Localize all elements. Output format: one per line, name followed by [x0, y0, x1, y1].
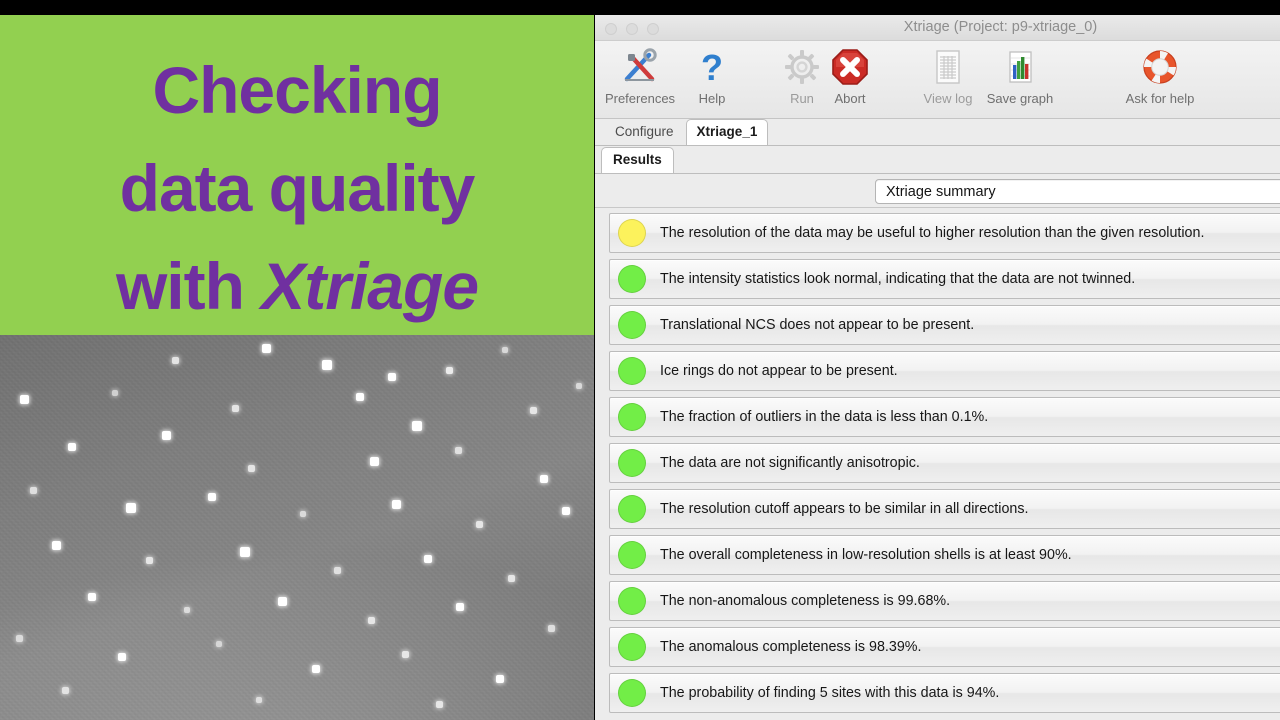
result-row[interactable]: The anomalous completeness is 98.39%. — [609, 627, 1280, 667]
status-dot-ok — [618, 633, 646, 661]
presentation-slide-panel: Checking data quality with Xtriage — [0, 15, 594, 720]
main-toolbar: Preferences ? Help — [595, 41, 1280, 119]
result-row[interactable]: The resolution of the data may be useful… — [609, 213, 1280, 253]
result-text: Translational NCS does not appear to be … — [660, 317, 974, 333]
xtriage-app-window: Xtriage (Project: p9-xtriage_0) Preferen… — [594, 15, 1280, 720]
question-icon: ? — [669, 45, 755, 89]
stop-x-icon — [807, 45, 893, 89]
status-dot-ok — [618, 403, 646, 431]
sub-tabstrip: Results — [595, 146, 1280, 174]
letterbox-top-bar — [0, 0, 1280, 15]
slide-title-line-1: Checking — [0, 41, 594, 139]
save-graph-button[interactable]: Save graph — [977, 45, 1063, 106]
ask-for-help-button[interactable]: Ask for help — [1105, 45, 1215, 106]
abort-button[interactable]: Abort — [807, 45, 893, 106]
result-text: The data are not significantly anisotrop… — [660, 455, 920, 471]
status-dot-ok — [618, 357, 646, 385]
status-dot-ok — [618, 679, 646, 707]
result-text: The anomalous completeness is 98.39%. — [660, 639, 921, 655]
help-label: Help — [669, 91, 755, 106]
result-row[interactable]: The data are not significantly anisotrop… — [609, 443, 1280, 483]
result-row[interactable]: The probability of finding 5 sites with … — [609, 673, 1280, 713]
bar-chart-icon — [977, 45, 1063, 89]
summary-selector-row: Xtriage summary — [595, 174, 1280, 208]
result-row[interactable]: The resolution cutoff appears to be simi… — [609, 489, 1280, 529]
result-row[interactable]: The non-anomalous completeness is 99.68%… — [609, 581, 1280, 621]
abort-label: Abort — [807, 91, 893, 106]
status-dot-ok — [618, 587, 646, 615]
results-list: The resolution of the data may be useful… — [595, 208, 1280, 720]
tab-xtriage-1[interactable]: Xtriage_1 — [686, 119, 769, 145]
result-text: The resolution cutoff appears to be simi… — [660, 501, 1028, 517]
result-text: The intensity statistics look normal, in… — [660, 271, 1135, 287]
status-dot-ok — [618, 311, 646, 339]
slide-title-line-3-text: with — [116, 249, 261, 323]
status-dot-ok — [618, 265, 646, 293]
help-button[interactable]: ? Help — [669, 45, 755, 106]
svg-text:?: ? — [701, 47, 723, 87]
status-dot-ok — [618, 495, 646, 523]
slide-title-line-3: with Xtriage — [0, 237, 594, 335]
tab-configure[interactable]: Configure — [605, 120, 684, 145]
tab-results[interactable]: Results — [601, 147, 674, 173]
diffraction-grain — [0, 335, 594, 720]
result-row[interactable]: Ice rings do not appear to be present. — [609, 351, 1280, 391]
save-graph-label: Save graph — [977, 91, 1063, 106]
result-text: The non-anomalous completeness is 99.68%… — [660, 593, 950, 609]
slide-title: Checking data quality with Xtriage — [0, 41, 594, 335]
status-dot-ok — [618, 541, 646, 569]
screenshot-root: Checking data quality with Xtriage — [0, 0, 1280, 720]
result-text: The probability of finding 5 sites with … — [660, 685, 999, 701]
status-dot-warning — [618, 219, 646, 247]
window-titlebar: Xtriage (Project: p9-xtriage_0) — [595, 15, 1280, 41]
slide-title-line-2: data quality — [0, 139, 594, 237]
lifebuoy-icon — [1105, 45, 1215, 89]
result-row[interactable]: The intensity statistics look normal, in… — [609, 259, 1280, 299]
result-row[interactable]: The fraction of outliers in the data is … — [609, 397, 1280, 437]
slide-app-name: Xtriage — [261, 249, 478, 323]
xtriage-summary-selector[interactable]: Xtriage summary — [875, 179, 1280, 204]
result-text: The overall completeness in low-resoluti… — [660, 547, 1072, 563]
window-title: Xtriage (Project: p9-xtriage_0) — [595, 19, 1280, 35]
result-row[interactable]: Translational NCS does not appear to be … — [609, 305, 1280, 345]
result-text: The fraction of outliers in the data is … — [660, 409, 988, 425]
main-tabstrip: Configure Xtriage_1 — [595, 119, 1280, 146]
diffraction-pattern-image — [0, 335, 594, 720]
result-text: Ice rings do not appear to be present. — [660, 363, 898, 379]
ask-for-help-label: Ask for help — [1105, 91, 1215, 106]
status-dot-ok — [618, 449, 646, 477]
result-row[interactable]: The overall completeness in low-resoluti… — [609, 535, 1280, 575]
xtriage-summary-selector-value: Xtriage summary — [886, 184, 996, 200]
slide-title-card: Checking data quality with Xtriage — [0, 15, 594, 335]
result-text: The resolution of the data may be useful… — [660, 225, 1204, 241]
